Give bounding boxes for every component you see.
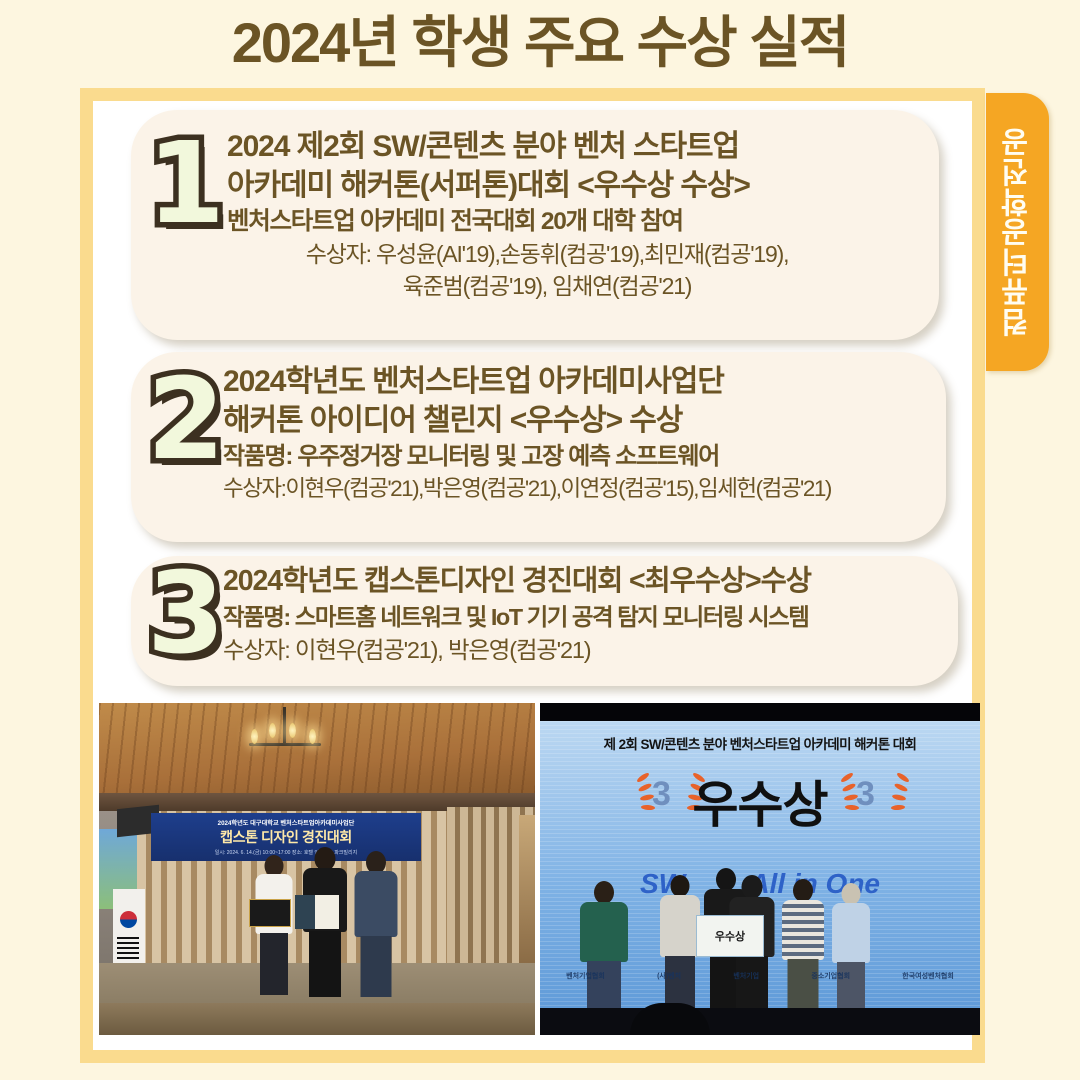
photo-bottom-bar xyxy=(540,1008,980,1035)
ceremony-photo-left: 2024학년도 대구대학교 벤처스타트업아카데미사업단 캡스톤 디자인 경진대회… xyxy=(99,703,535,1035)
photo-floor-front xyxy=(99,1003,535,1035)
sponsor-logo: 벤처기업 xyxy=(733,971,759,981)
award-subtitle: 작품명: 우주정거장 모니터링 및 고장 예측 소프트웨어 xyxy=(223,440,941,473)
award-subtitle: 작품명: 스마트홈 네트워크 및 IoT 기기 공격 탐지 모니터링 시스템 xyxy=(223,601,953,634)
event-banner-line1: 2024학년도 대구대학교 벤처스타트업아카데미사업단 xyxy=(218,818,355,827)
department-tab: 컴퓨터공학전공 xyxy=(986,93,1049,371)
photo-person xyxy=(576,881,632,1013)
photo-person xyxy=(778,879,828,1013)
ceremony-photo-right: 제 2회 SW/콘텐츠 분야 벤처스타트업 아카데미 해커톤 대회 3 3 우수… xyxy=(540,703,980,1035)
event-banner-line2: 캡스톤 디자인 경진대회 xyxy=(220,827,352,847)
award-subtitle: 벤처스타트업 아카데미 전국대회 20개 대학 참여 xyxy=(227,205,927,238)
award-rank-numeral: 3 xyxy=(147,558,225,670)
award-winners-line1: 수상자:이현우(컴공'21),박은영(컴공'21),이연정(컴공'15),임세헌… xyxy=(223,473,941,505)
award-rank-numeral: 1 xyxy=(147,128,225,240)
stage-award-title: 우수상 xyxy=(540,765,980,837)
award-card-2-body: 2024학년도 벤처스타트업 아카데미사업단 해커톤 아이디어 챌린지 <우수상… xyxy=(223,362,941,505)
sponsor-logo: 벤처기업협회 xyxy=(566,971,605,981)
award-certificate xyxy=(295,895,339,929)
award-card-3-body: 2024학년도 캡스톤디자인 경진대회 <최우수상>수상 작품명: 스마트홈 네… xyxy=(223,562,953,666)
award-plaque xyxy=(249,899,291,927)
photo-person xyxy=(828,883,874,1013)
award-card-1-body: 2024 제2회 SW/콘텐츠 분야 벤처 스타트업 아카데미 해커톤(서퍼톤)… xyxy=(227,127,927,302)
award-title-line1: 2024학년도 캡스톤디자인 경진대회 <최우수상>수상 xyxy=(223,562,953,601)
award-winners-line1: 수상자: 이현우(컴공'21), 박은영(컴공'21) xyxy=(223,634,953,666)
sponsor-logo: (사)벤처 xyxy=(657,971,681,981)
award-title-line1: 2024학년도 벤처스타트업 아카데미사업단 xyxy=(223,362,941,401)
award-winners-line2: 육준범(컴공'19), 임채연(컴공'21) xyxy=(227,270,927,302)
award-board: 우수상 xyxy=(696,915,764,957)
page-title: 2024년 학생 주요 수상 실적 xyxy=(0,6,1080,80)
award-title-line2: 아카데미 해커톤(서퍼톤)대회 <우수상 수상> xyxy=(227,166,927,205)
sponsor-logos: 벤처기업협회 (사)벤처 벤처기업 중소기업협회 한국여성벤처협회 xyxy=(540,965,980,987)
photo-person xyxy=(351,851,401,997)
award-rank-numeral: 2 xyxy=(147,364,225,476)
sponsor-logo: 중소기업협회 xyxy=(811,971,850,981)
award-title-line1: 2024 제2회 SW/콘텐츠 분야 벤처 스타트업 xyxy=(227,127,927,166)
sponsor-logo: 한국여성벤처협회 xyxy=(902,971,954,981)
photo-back-room xyxy=(519,815,535,965)
award-title-line2: 해커톤 아이디어 챌린지 <우수상> 수상 xyxy=(223,401,941,440)
photo-top-bar xyxy=(540,703,980,721)
award-winners-line1: 수상자: 우성윤(AI'19),손동휘(컴공'19),최민재(컴공'19), xyxy=(227,238,927,270)
award-card-1: 1 2024 제2회 SW/콘텐츠 분야 벤처 스타트업 아카데미 해커톤(서퍼… xyxy=(131,110,939,340)
stage-screen-heading: 제 2회 SW/콘텐츠 분야 벤처스타트업 아카데미 해커톤 대회 xyxy=(540,733,980,753)
department-tab-label: 컴퓨터공학전공 xyxy=(986,93,1049,371)
award-card-3: 3 2024학년도 캡스톤디자인 경진대회 <최우수상>수상 작품명: 스마트홈… xyxy=(131,556,958,686)
chandelier-icon xyxy=(249,707,321,759)
award-card-2: 2 2024학년도 벤처스타트업 아카데미사업단 해커톤 아이디어 챌린지 <우… xyxy=(131,352,946,542)
